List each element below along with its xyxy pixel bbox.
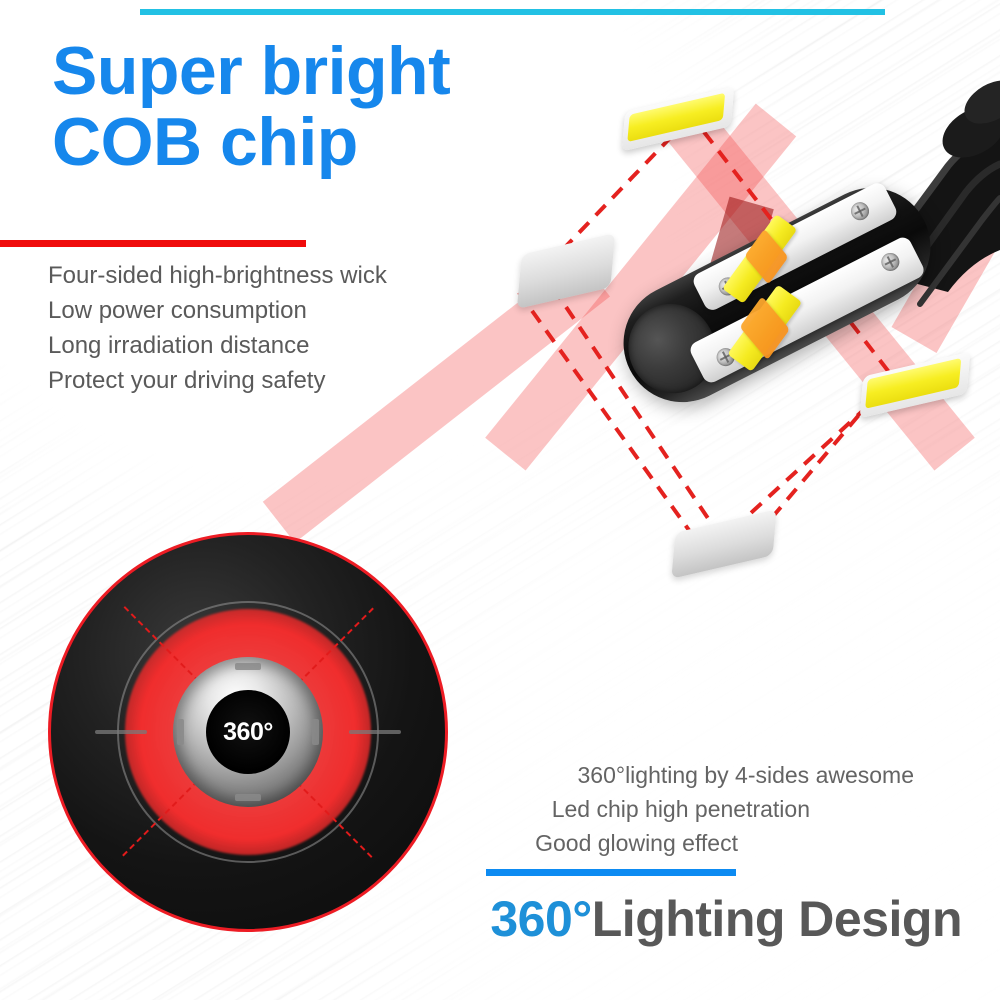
feature-item-2: Low power consumption bbox=[48, 293, 387, 328]
red-accent-rule bbox=[0, 240, 306, 247]
lens-notch-right bbox=[312, 719, 319, 745]
benefit-item-3: Good glowing effect bbox=[0, 826, 930, 860]
led-bulb-illustration bbox=[500, 40, 1000, 580]
benefit-item-2: Led chip high penetration bbox=[0, 792, 930, 826]
benefit-list: 360°lighting by 4-sides awesome Led chip… bbox=[0, 758, 930, 860]
bottom-headline: 360°Lighting Design bbox=[0, 890, 962, 948]
headline-line-1: Super bright bbox=[52, 33, 450, 109]
diagram-crosshair-right bbox=[349, 730, 401, 734]
lens-notch-left bbox=[177, 719, 184, 745]
benefit-item-1: 360°lighting by 4-sides awesome bbox=[0, 758, 930, 792]
product-banner: Super bright COB chip Four-sided high-br… bbox=[0, 0, 1000, 1000]
feature-item-1: Four-sided high-brightness wick bbox=[48, 258, 387, 293]
360-beam-diagram: 360° bbox=[48, 532, 448, 932]
blue-accent-rule bbox=[486, 869, 736, 876]
top-divider-rule bbox=[140, 9, 885, 15]
lens-notch-top bbox=[235, 663, 261, 670]
diagram-crosshair-left bbox=[95, 730, 147, 734]
feature-item-3: Long irradiation distance bbox=[48, 328, 387, 363]
bottom-headline-accent: 360° bbox=[490, 891, 591, 947]
headline-line-2: COB chip bbox=[52, 107, 572, 178]
diagram-hub-label: 360° bbox=[223, 718, 273, 747]
diagram-outer-disc: 360° bbox=[48, 532, 448, 932]
bottom-headline-rest: Lighting Design bbox=[592, 891, 962, 947]
feature-list: Four-sided high-brightness wick Low powe… bbox=[48, 258, 387, 398]
page-title: Super bright COB chip bbox=[52, 36, 572, 177]
feature-item-4: Protect your driving safety bbox=[48, 363, 387, 398]
